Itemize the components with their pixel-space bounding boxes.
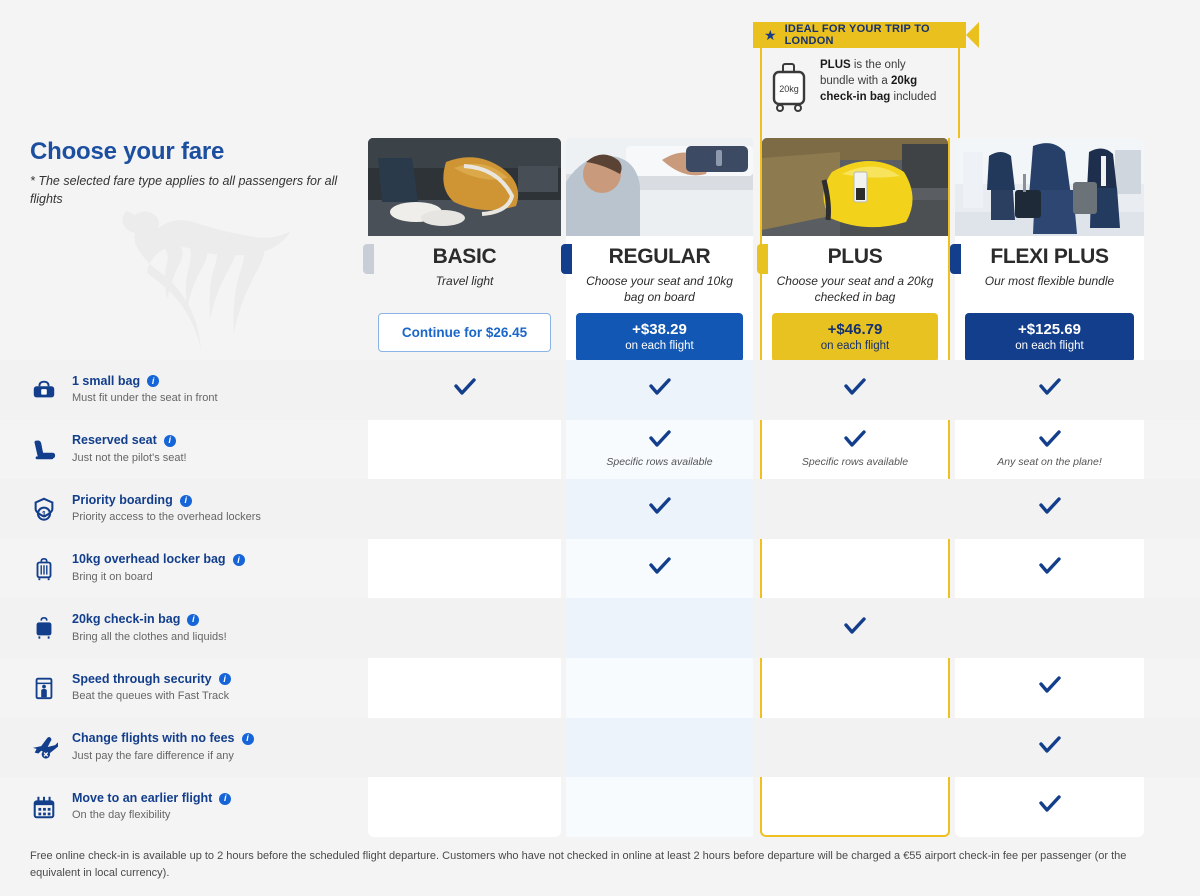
page-title: Choose your fare (30, 138, 360, 166)
feature-title: 1 small bagi (72, 374, 218, 390)
feature-title: Reserved seati (72, 433, 187, 449)
check-in-bag-icon (30, 614, 58, 642)
feature-cell-flexiplus (955, 539, 1144, 599)
info-icon[interactable]: i (242, 733, 254, 745)
fare-tab-marker-regular (561, 244, 572, 274)
feature-cell-regular (566, 360, 753, 420)
fare-description-basic: Travel light (376, 273, 553, 307)
feature-cell-plus: Specific rows available (762, 420, 948, 480)
page-subtitle: * The selected fare type applies to all … (30, 172, 360, 208)
fare-head-regular: REGULAR Choose your seat and 10kg bag on… (566, 236, 753, 307)
fare-price-regular: +$38.29 (580, 321, 739, 338)
feature-cell-basic (368, 777, 561, 837)
info-icon[interactable]: i (233, 554, 245, 566)
feature-cell-regular (566, 479, 753, 539)
feature-title: Speed through securityi (72, 672, 231, 688)
feature-row: 1Priority boardingiPriority access to th… (0, 479, 1200, 539)
fare-comparison-table: 1 small bagiMust fit under the seat in f… (0, 360, 1200, 837)
feature-title-text: Reserved seat (72, 433, 157, 449)
svg-text:1: 1 (42, 509, 47, 519)
feature-title-text: Priority boarding (72, 493, 173, 509)
feature-subtitle: Priority access to the overhead lockers (72, 510, 261, 525)
feature-cell-regular (566, 658, 753, 718)
check-icon (649, 430, 671, 453)
priority-boarding-icon: 1 (30, 495, 58, 523)
feature-title: Change flights with no feesi (72, 731, 254, 747)
fare-tab-marker-plus (757, 244, 768, 274)
fare-name-regular: REGULAR (574, 244, 745, 269)
ryanair-harp-logo (95, 205, 295, 350)
fare-card-plus[interactable]: PLUS Choose your seat and a 20kg checked… (760, 138, 950, 374)
check-icon (1039, 795, 1061, 818)
flight-change-icon (30, 733, 58, 761)
check-icon (844, 378, 866, 401)
feature-subtitle: Bring it on board (72, 570, 245, 585)
feature-label-overhead-locker-bag: 10kg overhead locker bagiBring it on boa… (30, 539, 360, 599)
feature-row: 10kg overhead locker bagiBring it on boa… (0, 539, 1200, 599)
check-icon (1039, 736, 1061, 759)
fare-selection-page: Choose your fare * The selected fare typ… (0, 0, 1200, 896)
feature-label-fast-track-security: Speed through securityiBeat the queues w… (30, 658, 360, 718)
info-icon[interactable]: i (180, 495, 192, 507)
promo-body: 20kg PLUS is the only bundle with a 20kg… (767, 58, 957, 118)
feature-subtitle: On the day flexibility (72, 808, 231, 823)
feature-cell-flexiplus (955, 777, 1144, 837)
feature-cell-plus (762, 777, 948, 837)
promo-text-4: included (890, 91, 936, 103)
fare-button-wrap-basic: Continue for $26.45 (368, 307, 561, 364)
feature-label-small-bag: 1 small bagiMust fit under the seat in f… (30, 360, 360, 420)
promo-text: PLUS is the only bundle with a 20kg chec… (820, 58, 940, 106)
select-fare-plus-button[interactable]: +$46.79 on each flight (772, 313, 938, 362)
feature-cell-plus (762, 360, 948, 420)
feature-cell-plus (762, 539, 948, 599)
photo-bag-under-seat (368, 138, 561, 236)
info-icon[interactable]: i (219, 673, 231, 685)
fast-track-security-icon (30, 674, 58, 702)
feature-title-text: 20kg check-in bag (72, 612, 180, 628)
feature-cell-plus (762, 598, 948, 658)
info-icon[interactable]: i (147, 375, 159, 387)
fare-price-plus: +$46.79 (776, 321, 934, 338)
check-icon (844, 430, 866, 453)
feature-cell-regular (566, 718, 753, 778)
feature-cell-flexiplus: Any seat on the plane! (955, 420, 1144, 480)
check-icon (649, 497, 671, 520)
check-icon (1039, 497, 1061, 520)
fare-name-basic: BASIC (376, 244, 553, 269)
feature-row: Change flights with no feesiJust pay the… (0, 718, 1200, 778)
feature-cell-plus (762, 658, 948, 718)
promo-text-bold-1: PLUS (820, 59, 851, 71)
feature-title-text: Speed through security (72, 672, 212, 688)
cell-note: Specific rows available (606, 456, 712, 469)
promo-ribbon: ★ IDEAL FOR YOUR TRIP TO LONDON (753, 22, 979, 48)
fare-card-basic[interactable]: BASIC Travel light Continue for $26.45 (368, 138, 561, 364)
feature-title-text: 1 small bag (72, 374, 140, 390)
check-icon (1039, 676, 1061, 699)
feature-cell-basic (368, 420, 561, 480)
feature-cell-basic (368, 479, 561, 539)
fare-head-basic: BASIC Travel light (368, 236, 561, 307)
feature-row: 1 small bagiMust fit under the seat in f… (0, 360, 1200, 420)
fare-description-plus: Choose your seat and a 20kg checked in b… (770, 273, 940, 307)
feature-title: 10kg overhead locker bagi (72, 552, 245, 568)
feature-cell-plus (762, 718, 948, 778)
feature-cell-regular (566, 777, 753, 837)
select-fare-regular-button[interactable]: +$38.29 on each flight (576, 313, 743, 362)
feature-label-priority-boarding: 1Priority boardingiPriority access to th… (30, 479, 360, 539)
fare-head-flexiplus: FLEXI PLUS Our most flexible bundle (955, 236, 1144, 307)
feature-subtitle: Just not the pilot's seat! (72, 451, 187, 466)
feature-cell-basic (368, 598, 561, 658)
feature-subtitle: Must fit under the seat in front (72, 391, 218, 406)
fare-price-per-flexiplus: on each flight (969, 339, 1130, 354)
feature-cell-regular: Specific rows available (566, 420, 753, 480)
photo-overhead-locker (566, 138, 753, 236)
feature-title: Priority boardingi (72, 493, 261, 509)
fare-description-regular: Choose your seat and 10kg bag on board (574, 273, 745, 307)
footer-disclaimer: Free online check-in is available up to … (30, 848, 1150, 881)
overhead-locker-bag-icon (30, 555, 58, 583)
select-fare-flexiplus-button[interactable]: +$125.69 on each flight (965, 313, 1134, 362)
feature-title: Move to an earlier flighti (72, 791, 231, 807)
suitcase-20kg-icon: 20kg (767, 58, 811, 118)
check-icon (1039, 430, 1061, 453)
feature-label-calendar-earlier-flight: Move to an earlier flightiOn the day fle… (30, 777, 360, 837)
feature-title: 20kg check-in bagi (72, 612, 227, 628)
check-icon (649, 378, 671, 401)
fare-price-per-plus: on each flight (776, 339, 934, 354)
fare-head-plus: PLUS Choose your seat and a 20kg checked… (762, 236, 948, 307)
check-icon (844, 617, 866, 640)
select-fare-basic-button[interactable]: Continue for $26.45 (378, 313, 551, 352)
cell-note: Specific rows available (802, 456, 908, 469)
feature-cell-regular (566, 598, 753, 658)
feature-label-check-in-bag: 20kg check-in bagiBring all the clothes … (30, 598, 360, 658)
feature-cell-flexiplus (955, 658, 1144, 718)
feature-cell-basic (368, 539, 561, 599)
feature-label-seat: Reserved seatiJust not the pilot's seat! (30, 420, 360, 480)
check-icon (454, 378, 476, 401)
feature-row: Move to an earlier flightiOn the day fle… (0, 777, 1200, 837)
check-icon (1039, 378, 1061, 401)
feature-title-text: Move to an earlier flight (72, 791, 212, 807)
feature-cell-flexiplus (955, 598, 1144, 658)
feature-label-flight-change: Change flights with no feesiJust pay the… (30, 718, 360, 778)
fare-tab-marker-flexiplus (950, 244, 961, 274)
info-icon[interactable]: i (187, 614, 199, 626)
check-icon (1039, 557, 1061, 580)
fare-name-flexiplus: FLEXI PLUS (963, 244, 1136, 269)
feature-cell-basic (368, 360, 561, 420)
feature-cell-basic (368, 658, 561, 718)
svg-text:20kg: 20kg (779, 84, 799, 94)
feature-row: Reserved seatiJust not the pilot's seat!… (0, 420, 1200, 480)
fare-tab-marker-basic (363, 244, 374, 274)
seat-icon (30, 435, 58, 463)
cell-note: Any seat on the plane! (997, 456, 1102, 469)
page-header: Choose your fare * The selected fare typ… (30, 138, 360, 208)
feature-subtitle: Bring all the clothes and liquids! (72, 630, 227, 645)
photo-business-travellers (955, 138, 1144, 236)
feature-subtitle: Beat the queues with Fast Track (72, 689, 231, 704)
star-icon: ★ (764, 28, 777, 42)
info-icon[interactable]: i (164, 435, 176, 447)
photo-yellow-suitcase (762, 138, 948, 236)
check-icon (649, 557, 671, 580)
feature-cell-flexiplus (955, 479, 1144, 539)
feature-row: 20kg check-in bagiBring all the clothes … (0, 598, 1200, 658)
fare-description-flexiplus: Our most flexible bundle (963, 273, 1136, 307)
calendar-earlier-flight-icon (30, 793, 58, 821)
feature-cell-regular (566, 539, 753, 599)
feature-cell-flexiplus (955, 718, 1144, 778)
info-icon[interactable]: i (219, 793, 231, 805)
feature-subtitle: Just pay the fare difference if any (72, 749, 254, 764)
feature-title-text: Change flights with no fees (72, 731, 235, 747)
promo-ribbon-label: IDEAL FOR YOUR TRIP TO LONDON (785, 23, 979, 47)
fare-card-flexiplus[interactable]: FLEXI PLUS Our most flexible bundle +$12… (955, 138, 1144, 374)
fare-price-flexiplus: +$125.69 (969, 321, 1130, 338)
fare-name-plus: PLUS (770, 244, 940, 269)
feature-cell-flexiplus (955, 360, 1144, 420)
feature-title-text: 10kg overhead locker bag (72, 552, 226, 568)
feature-row: Speed through securityiBeat the queues w… (0, 658, 1200, 718)
fare-card-regular[interactable]: REGULAR Choose your seat and 10kg bag on… (566, 138, 753, 374)
feature-cell-plus (762, 479, 948, 539)
small-bag-icon (30, 376, 58, 404)
feature-cell-basic (368, 718, 561, 778)
fare-price-per-regular: on each flight (580, 339, 739, 354)
